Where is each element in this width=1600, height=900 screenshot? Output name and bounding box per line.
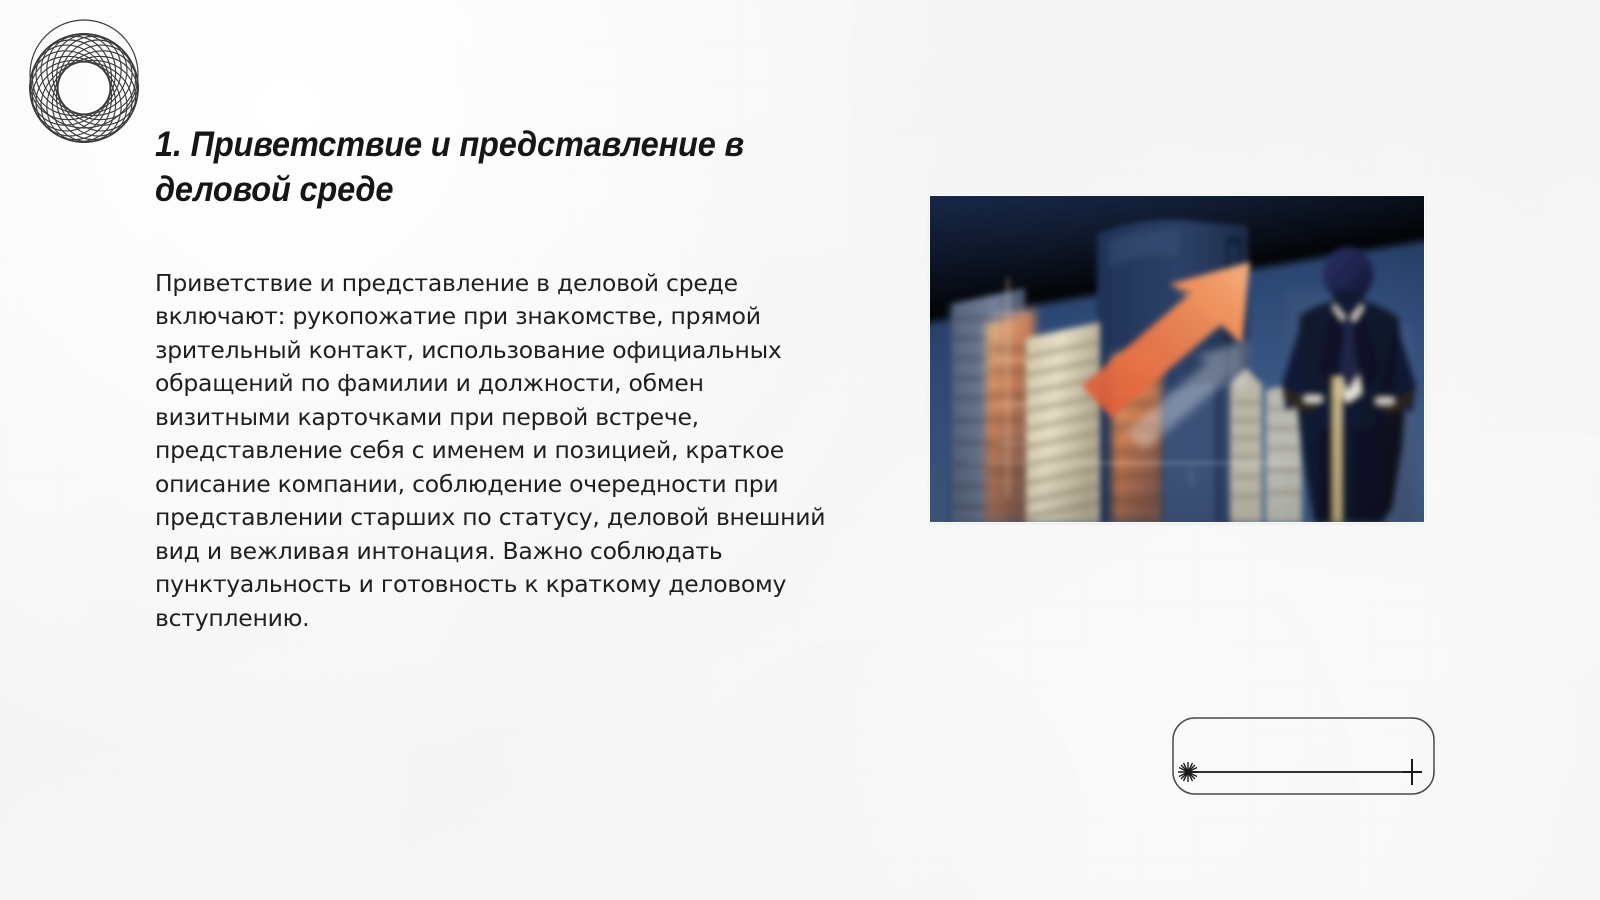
page-title: 1. Приветствие и представление в деловой… xyxy=(155,123,806,211)
spirograph-icon xyxy=(4,8,164,168)
spirograph-decoration xyxy=(4,8,164,168)
rounded-rectangle-callout[interactable] xyxy=(1172,703,1435,795)
plus-icon xyxy=(1403,759,1422,785)
business-photo-illustration xyxy=(930,196,1424,522)
business-photo xyxy=(930,196,1424,522)
slide-canvas: 1. Приветствие и представление в деловой… xyxy=(0,0,1600,900)
callout-shape-icon xyxy=(1172,703,1435,795)
sunburst-icon xyxy=(1178,762,1198,782)
body-paragraph: Приветствие и представление в деловой ср… xyxy=(155,267,833,636)
